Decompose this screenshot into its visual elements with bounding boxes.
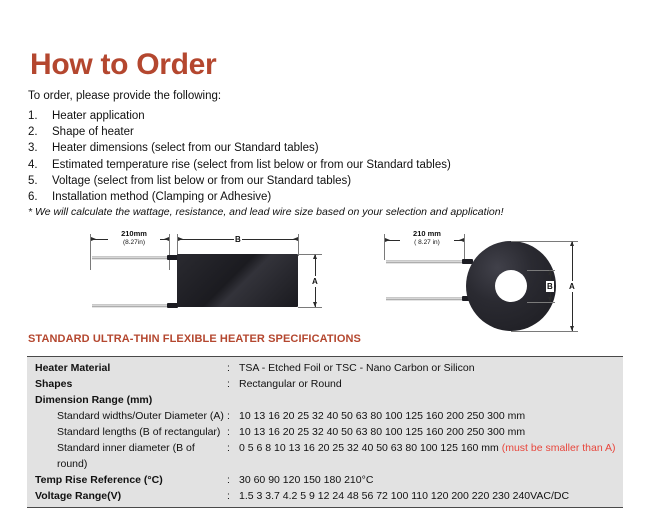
list-item-label: Voltage (select from list below or from …: [52, 173, 628, 189]
spec-value: 0 5 6 8 10 13 16 20 25 32 40 50 63 80 10…: [239, 440, 623, 456]
spec-label: Dimension Range (mm): [27, 392, 227, 408]
lead-wire: [92, 256, 173, 260]
spec-label: Standard widths/Outer Diameter (A): [27, 408, 227, 424]
spec-colon: :: [227, 376, 239, 392]
list-item: 5. Voltage (select from list below or fr…: [28, 173, 628, 189]
list-item-number: 1.: [28, 108, 52, 124]
list-item: 2. Shape of heater: [28, 124, 628, 140]
table-row: Dimension Range (mm): [27, 392, 623, 408]
list-item-label: Heater dimensions (select from our Stand…: [52, 140, 628, 156]
list-item: 6. Installation method (Clamping or Adhe…: [28, 189, 628, 205]
lead-length-label: 210mm (8.27in): [108, 230, 160, 247]
list-item-label: Heater application: [52, 108, 628, 124]
list-item-number: 3.: [28, 140, 52, 156]
spec-value: 10 13 16 20 25 32 40 50 63 80 100 125 16…: [239, 408, 623, 424]
round-heater-inner-hole: [495, 270, 527, 302]
spec-value: 10 13 16 20 25 32 40 50 63 80 100 125 16…: [239, 424, 623, 440]
spec-colon: :: [227, 408, 239, 424]
spec-value-text: 1.5 3 3.7 4.2 5 9 12 24 48 56 72 100 110…: [239, 490, 569, 502]
arrow-left-icon: [178, 237, 183, 241]
extension-line: [298, 234, 299, 256]
inner-diameter-label: B: [546, 281, 554, 292]
spec-table: Heater Material : TSA - Etched Foil or T…: [27, 356, 623, 508]
table-row: Temp Rise Reference (°C) : 30 60 90 120 …: [27, 472, 623, 488]
spec-value: 1.5 3 3.7 4.2 5 9 12 24 48 56 72 100 110…: [239, 488, 623, 504]
extension-line: [298, 307, 322, 308]
arrow-right-icon: [293, 237, 298, 241]
spec-colon: :: [227, 488, 239, 504]
intro-text: To order, please provide the following:: [28, 90, 221, 102]
extension-line: [169, 234, 170, 270]
round-heater-diagram: 210 mm ( 8.27 in) B A: [378, 228, 628, 333]
list-item-label: Estimated temperature rise (select from …: [52, 157, 628, 173]
lead-length-mm: 210mm: [121, 229, 147, 238]
extension-line: [464, 234, 465, 260]
list-item-label: Shape of heater: [52, 124, 628, 140]
page-title: How to Order: [30, 50, 216, 80]
list-item: 4. Estimated temperature rise (select fr…: [28, 157, 628, 173]
table-row: Standard widths/Outer Diameter (A) : 10 …: [27, 408, 623, 424]
extension-line: [527, 302, 555, 303]
arrow-left-icon: [91, 237, 96, 241]
list-item-number: 4.: [28, 157, 52, 173]
arrow-up-icon: [570, 241, 574, 246]
table-row: Heater Material : TSA - Etched Foil or T…: [27, 357, 623, 376]
list-item-number: 5.: [28, 173, 52, 189]
table-row: Standard lengths (B of rectangular) : 10…: [27, 424, 623, 440]
extension-line: [298, 254, 322, 255]
lead-length-in: ( 8.27 in): [402, 239, 452, 248]
diagram-area: 210mm (8.27in) B A: [0, 228, 650, 333]
table-row: Voltage Range(V) : 1.5 3 3.7 4.2 5 9 12 …: [27, 488, 623, 507]
arrow-up-icon: [548, 270, 552, 275]
spec-value-text: 10 13 16 20 25 32 40 50 63 80 100 125 16…: [239, 410, 525, 422]
spec-colon: :: [227, 424, 239, 440]
list-item-number: 6.: [28, 189, 52, 205]
list-item: 1. Heater application: [28, 108, 628, 124]
extension-line: [511, 241, 578, 242]
arrow-right-icon: [164, 237, 169, 241]
height-dimension-label: A: [311, 276, 319, 287]
spec-label: Standard inner diameter (B of round): [27, 440, 227, 472]
spec-value-text: 10 13 16 20 25 32 40 50 63 80 100 125 16…: [239, 426, 525, 438]
spec-label: Voltage Range(V): [27, 488, 227, 504]
spec-value-text: 0 5 6 8 10 13 16 20 25 32 40 50 63 80 10…: [239, 442, 502, 454]
list-item: 3. Heater dimensions (select from our St…: [28, 140, 628, 156]
spec-colon: :: [227, 472, 239, 488]
list-item-number: 2.: [28, 124, 52, 140]
spec-label: Standard lengths (B of rectangular): [27, 424, 227, 440]
spec-colon: :: [227, 360, 239, 376]
spec-value-text: 30 60 90 120 150 180 210°C: [239, 474, 373, 486]
list-item-label: Installation method (Clamping or Adhesiv…: [52, 189, 628, 205]
lead-length-mm: 210 mm: [413, 229, 441, 238]
table-row: Shapes : Rectangular or Round: [27, 376, 623, 392]
order-steps-list: 1. Heater application 2. Shape of heater…: [28, 108, 628, 205]
spec-section-title: STANDARD ULTRA-THIN FLEXIBLE HEATER SPEC…: [28, 333, 361, 345]
page-root: How to Order To order, please provide th…: [0, 0, 650, 523]
lead-length-label: 210 mm ( 8.27 in): [400, 230, 454, 247]
spec-label: Shapes: [27, 376, 227, 392]
outer-diameter-label: A: [568, 281, 576, 292]
table-row: Standard inner diameter (B of round) : 0…: [27, 440, 623, 472]
arrow-down-icon: [313, 302, 317, 307]
extension-line: [511, 331, 578, 332]
lead-wire: [386, 260, 468, 264]
spec-value-note: (must be smaller than A): [502, 442, 616, 454]
width-dimension-label: B: [234, 234, 242, 245]
arrow-right-icon: [459, 238, 464, 242]
arrow-down-icon: [548, 297, 552, 302]
spec-value-text: Rectangular or Round: [239, 378, 342, 390]
spec-value: Rectangular or Round: [239, 376, 623, 392]
rectangular-heater-body: [177, 254, 298, 307]
arrow-left-icon: [385, 238, 390, 242]
spec-label: Temp Rise Reference (°C): [27, 472, 227, 488]
spec-label: Heater Material: [27, 360, 227, 376]
spec-value: 30 60 90 120 150 180 210°C: [239, 472, 623, 488]
footnote-text: * We will calculate the wattage, resista…: [28, 206, 504, 218]
lead-length-in: (8.27in): [110, 239, 158, 248]
spec-value: TSA - Etched Foil or TSC - Nano Carbon o…: [239, 360, 623, 376]
spec-colon: :: [227, 440, 239, 456]
arrow-down-icon: [570, 326, 574, 331]
lead-wire: [92, 304, 173, 308]
arrow-up-icon: [313, 254, 317, 259]
rectangular-heater-diagram: 210mm (8.27in) B A: [70, 228, 340, 328]
lead-wire: [386, 297, 468, 301]
spec-value-text: TSA - Etched Foil or TSC - Nano Carbon o…: [239, 362, 475, 374]
